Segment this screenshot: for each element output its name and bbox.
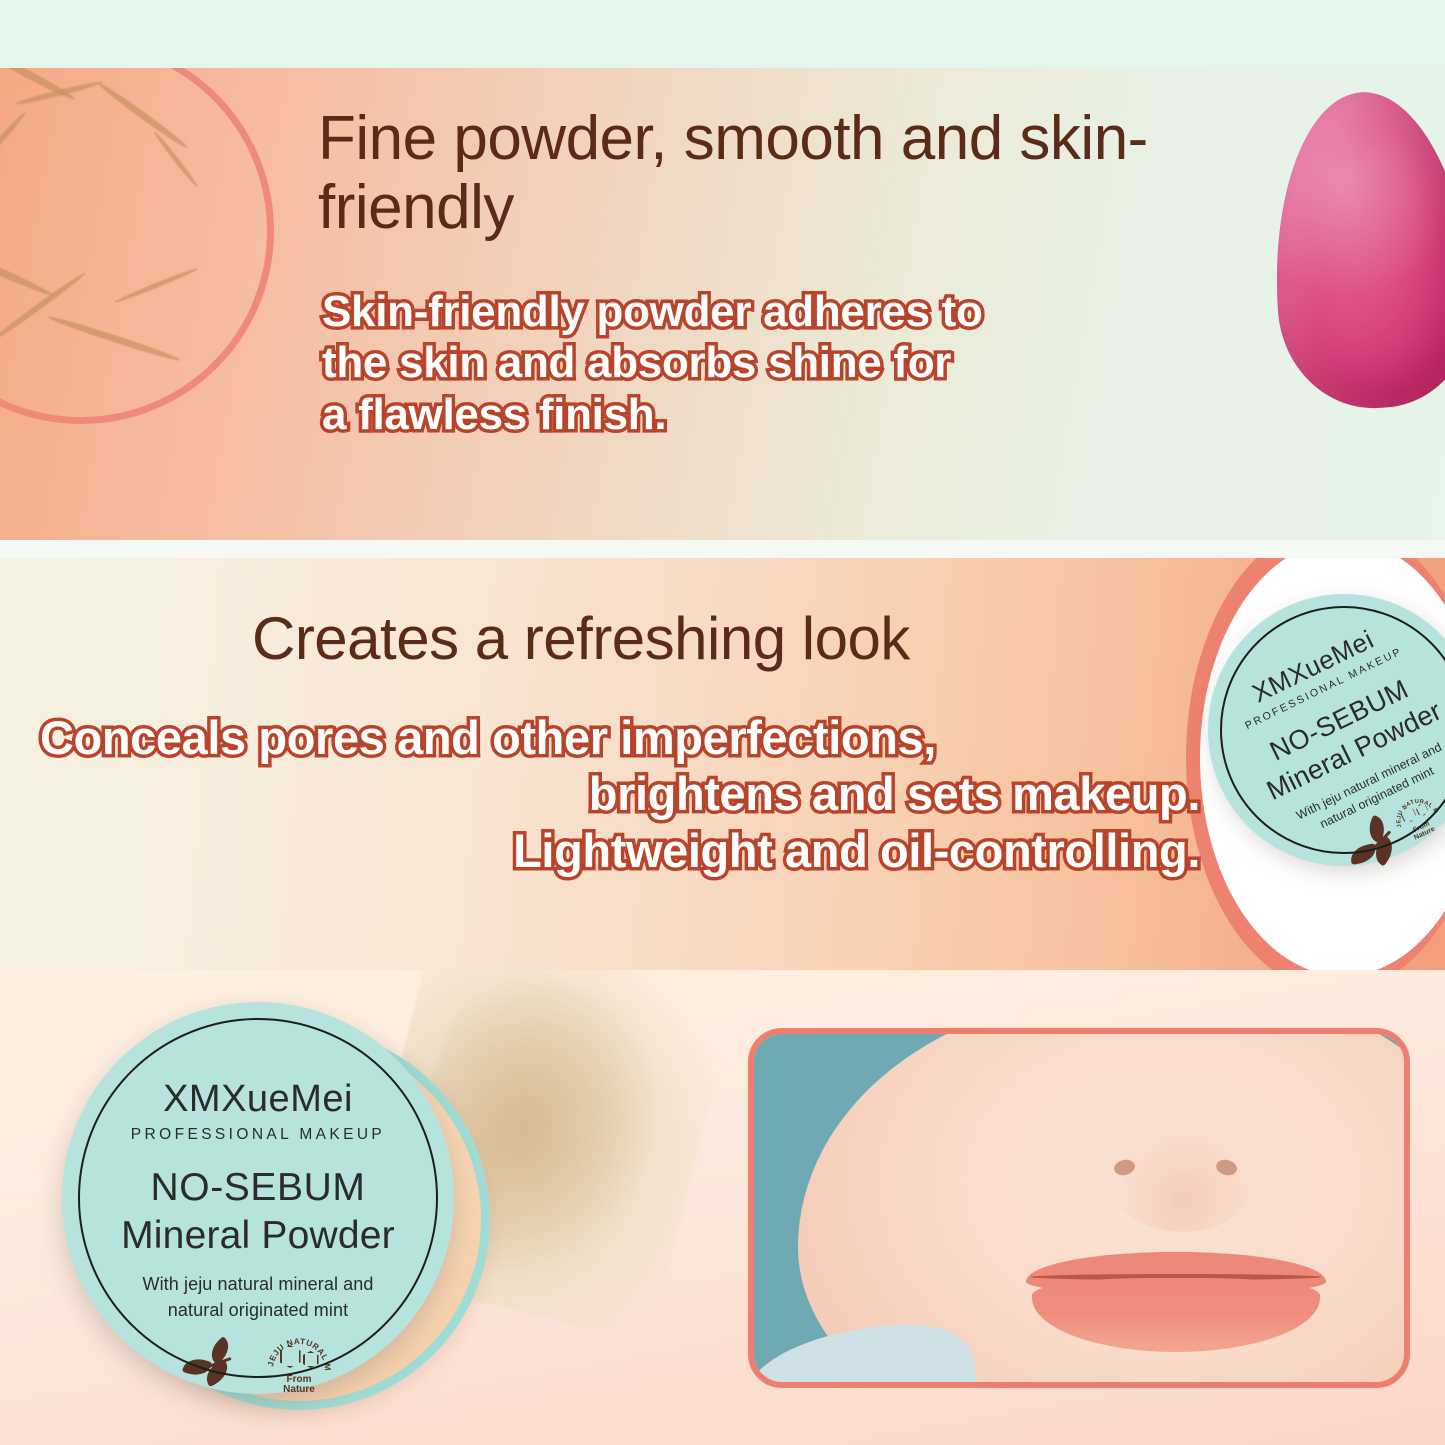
panel-refreshing-look: Creates a refreshing look Conceals pores… — [0, 558, 1445, 970]
panel1-heading: Fine powder, smooth and skin-friendly — [318, 104, 1278, 243]
powder-closeup-photo — [0, 68, 274, 424]
model-face-photo — [748, 1028, 1410, 1388]
label-product-line: NO-SEBUM — [62, 1166, 454, 1210]
beauty-sponge — [1263, 86, 1445, 415]
label-product-name: Mineral Powder — [1225, 678, 1445, 825]
panel2-heading: Creates a refreshing look — [252, 606, 1232, 672]
product-compact-large: XMXueMei PROFESSIONAL MAKEUP NO-SEBUM Mi… — [62, 1002, 474, 1414]
nose — [1108, 1120, 1258, 1232]
panel1-body: Skin-friendly powder adheres to the skin… — [322, 286, 1242, 440]
product-infographic: Fine powder, smooth and skin-friendly Sk… — [0, 0, 1445, 1445]
mint-leaf-icon — [1341, 821, 1389, 866]
label-product-name: Mineral Powder — [62, 1214, 454, 1258]
panel-fine-powder: Fine powder, smooth and skin-friendly Sk… — [0, 68, 1445, 540]
label-description-2: natural originated mint — [62, 1300, 454, 1321]
badge-nature: Nature — [283, 1384, 315, 1395]
mint-leaf-icon — [184, 1342, 240, 1388]
panel1-body-line-1: Skin-friendly powder adheres to — [322, 287, 983, 336]
label-emblems: JEJU NATURAL MINERAL From Nature — [62, 1332, 454, 1398]
panel-divider — [0, 540, 1445, 558]
label-tagline: PROFESSIONAL MAKEUP — [62, 1126, 454, 1144]
label-description-1: With jeju natural mineral and — [1244, 715, 1445, 847]
panel2-body-line-1: Conceals pores and other imperfections, — [40, 710, 1200, 766]
jeju-natural-mineral-badge-icon: JEJU NATURAL MINERAL From Nature — [266, 1332, 332, 1398]
panel2-body-line-3: Lightweight and oil-controlling. — [40, 823, 1200, 879]
badge-arc-text: JEJU NATURAL MINERAL — [266, 1332, 332, 1371]
svg-text:JEJU NATURAL MINERAL: JEJU NATURAL MINERAL — [266, 1332, 332, 1371]
label-brand: XMXueMei — [62, 1078, 454, 1121]
label-product-line: NO-SEBUM — [1210, 647, 1445, 794]
compact-lid-large: XMXueMei PROFESSIONAL MAKEUP NO-SEBUM Mi… — [62, 1002, 454, 1394]
powder-texture-veins — [0, 68, 267, 417]
panel2-body-line-2: brightens and sets makeup. — [40, 766, 1200, 822]
label-description-1: With jeju natural mineral and — [62, 1274, 454, 1295]
panel1-body-line-3: a flawless finish. — [322, 390, 666, 439]
panel2-body: Conceals pores and other imperfections, … — [40, 710, 1200, 879]
label-tagline: PROFESSIONAL MAKEUP — [1199, 624, 1445, 754]
face-image — [754, 1034, 1404, 1382]
panel1-body-line-2: the skin and absorbs shine for — [322, 338, 951, 387]
